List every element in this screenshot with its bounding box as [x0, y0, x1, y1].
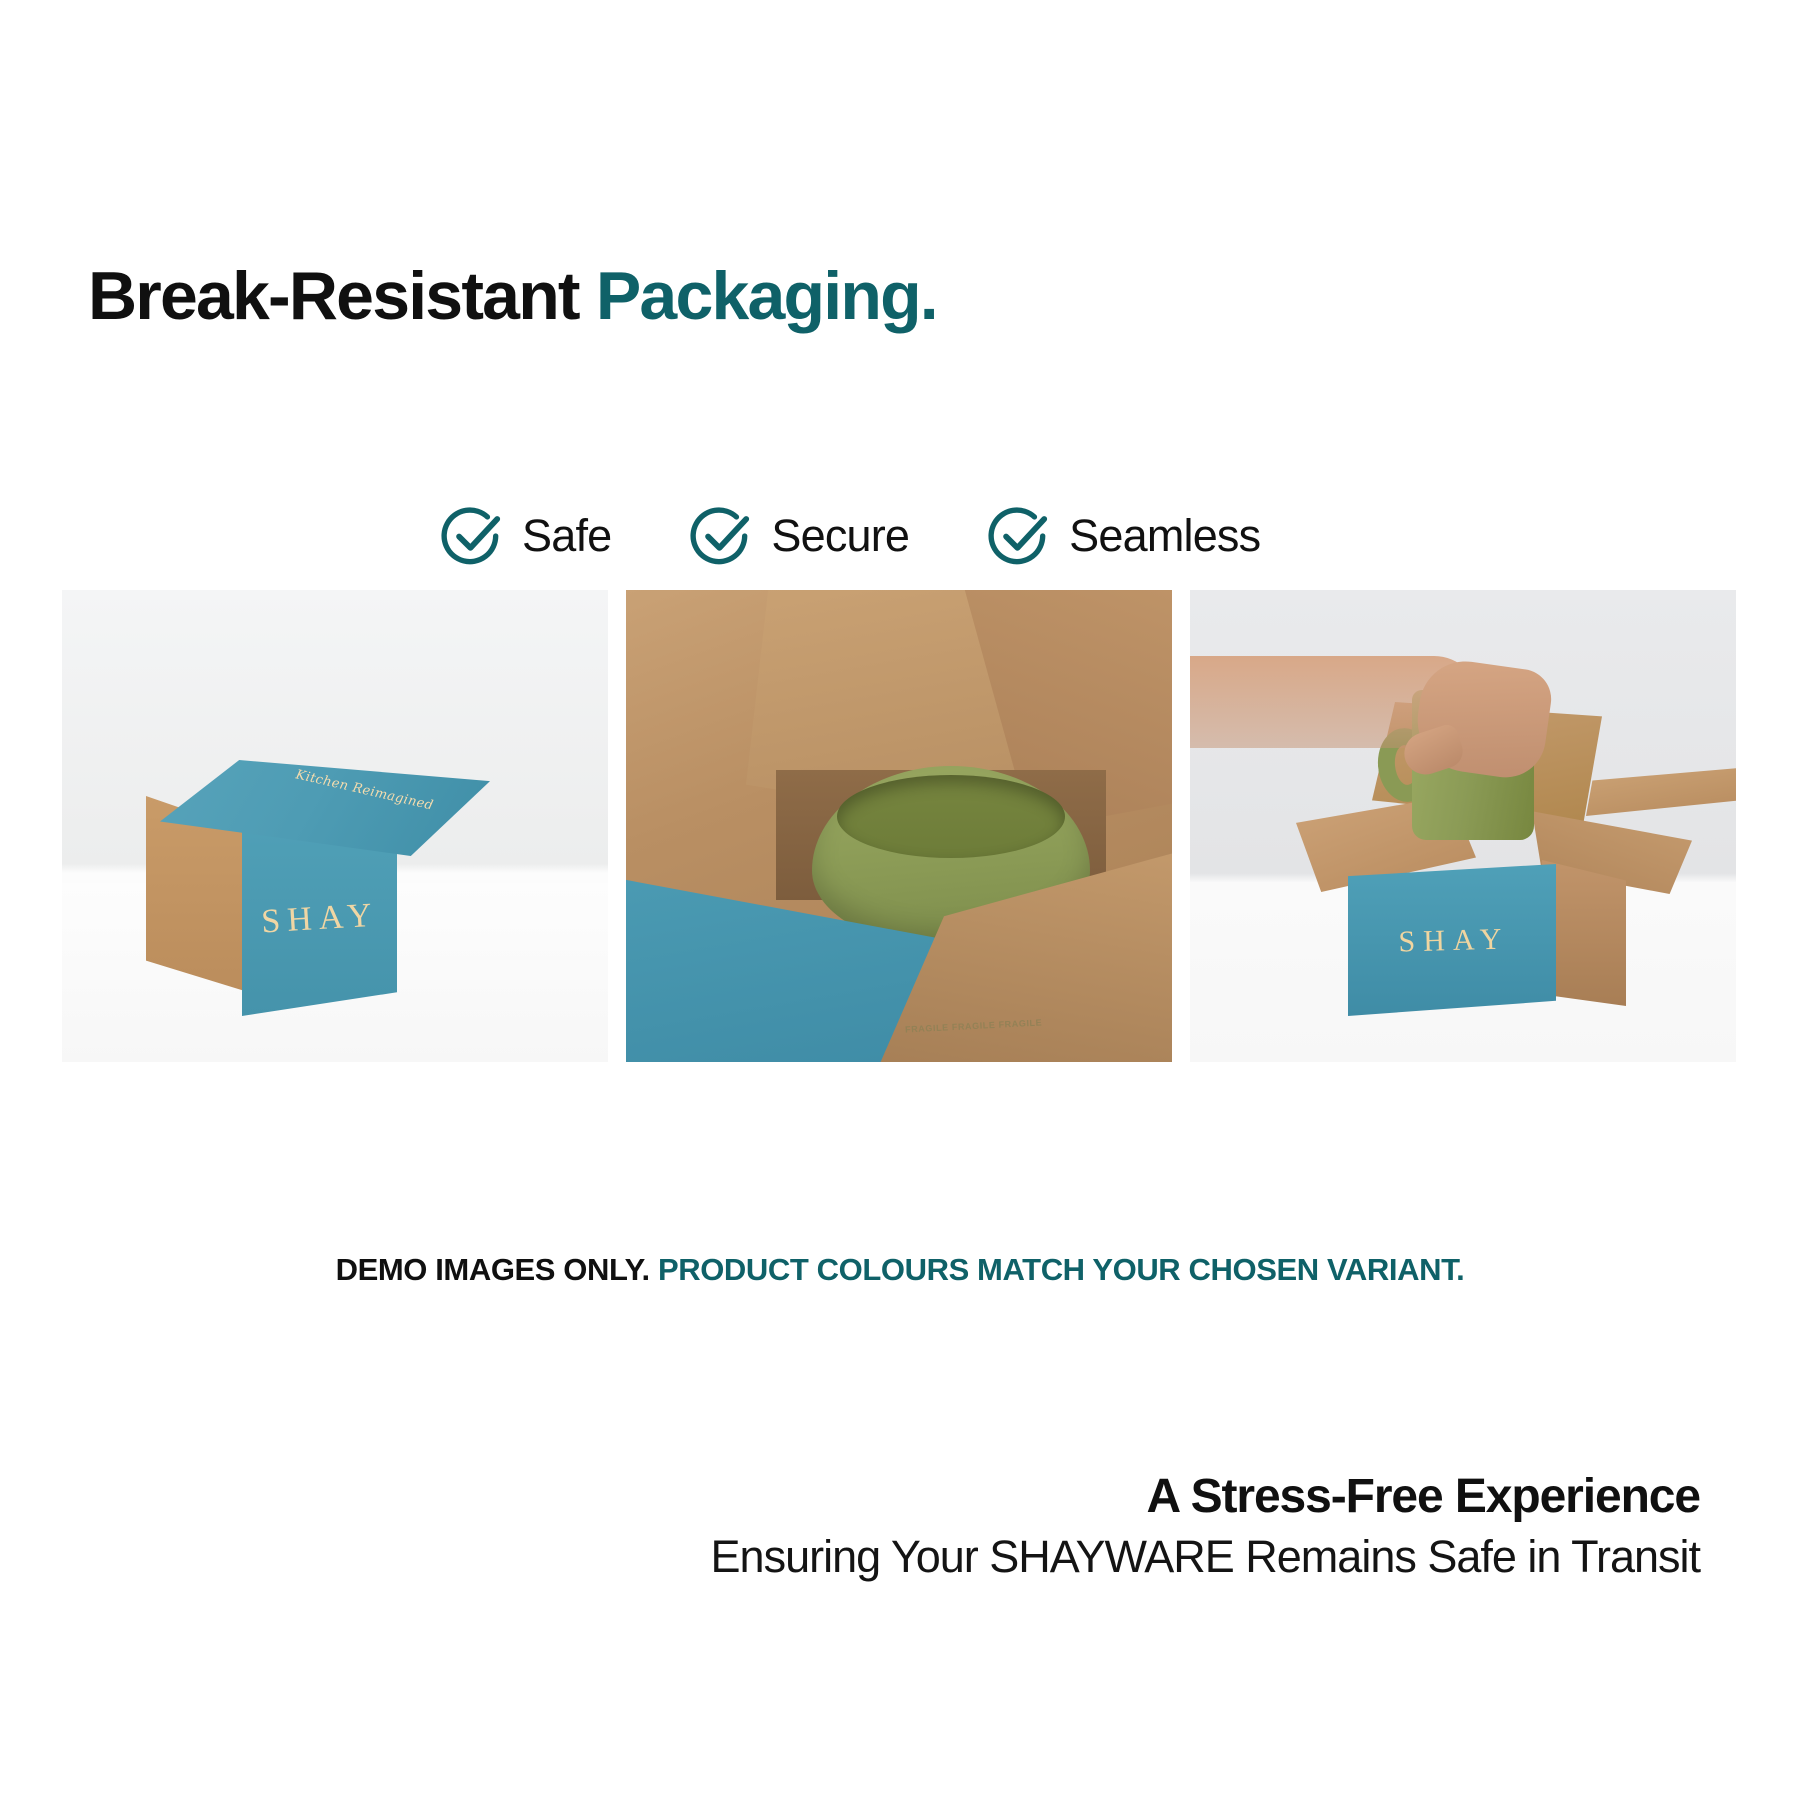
- box-brand-wordmark: SHAY: [1366, 922, 1543, 961]
- feature-badge-row: Safe Secure Seamless: [440, 502, 1380, 568]
- circle-check-icon: [440, 502, 506, 568]
- page-title: Break-Resistant Packaging.: [88, 262, 937, 330]
- product-photo-strip: Kitchen Reimagined SHAY FRAGILE FRAGILE …: [62, 590, 1738, 1062]
- footer-message: A Stress-Free Experience Ensuring Your S…: [500, 1470, 1700, 1583]
- disclaimer-primary: DEMO IMAGES ONLY.: [336, 1252, 658, 1287]
- feature-badge-label: Seamless: [1069, 513, 1260, 558]
- product-photo-closed-box: Kitchen Reimagined SHAY: [62, 590, 608, 1062]
- feature-badge-secure: Secure: [689, 502, 909, 568]
- product-photo-bowl-in-box: FRAGILE FRAGILE FRAGILE: [626, 590, 1172, 1062]
- shay-closed-box: Kitchen Reimagined SHAY: [146, 760, 506, 1020]
- page-title-primary: Break-Resistant: [88, 258, 596, 334]
- circle-check-icon: [987, 502, 1053, 568]
- disclaimer-caption: DEMO IMAGES ONLY. PRODUCT COLOURS MATCH …: [0, 1252, 1800, 1288]
- disclaimer-accent: PRODUCT COLOURS MATCH YOUR CHOSEN VARIAN…: [658, 1252, 1464, 1287]
- feature-badge-label: Safe: [522, 513, 611, 558]
- footer-title: A Stress-Free Experience: [500, 1470, 1700, 1524]
- page-title-accent: Packaging.: [596, 258, 937, 334]
- feature-badge-safe: Safe: [440, 502, 611, 568]
- feature-badge-seamless: Seamless: [987, 502, 1260, 568]
- feature-badge-label: Secure: [771, 513, 909, 558]
- packaging-infographic: Break-Resistant Packaging. Safe Secure S…: [0, 0, 1800, 1800]
- box-brand-wordmark: SHAY: [253, 896, 387, 942]
- circle-check-icon: [689, 502, 755, 568]
- box-flap-top: [1586, 768, 1736, 816]
- footer-subtitle: Ensuring Your SHAYWARE Remains Safe in T…: [500, 1530, 1700, 1583]
- product-photo-hand-lifting-mug: SHAY: [1190, 590, 1736, 1062]
